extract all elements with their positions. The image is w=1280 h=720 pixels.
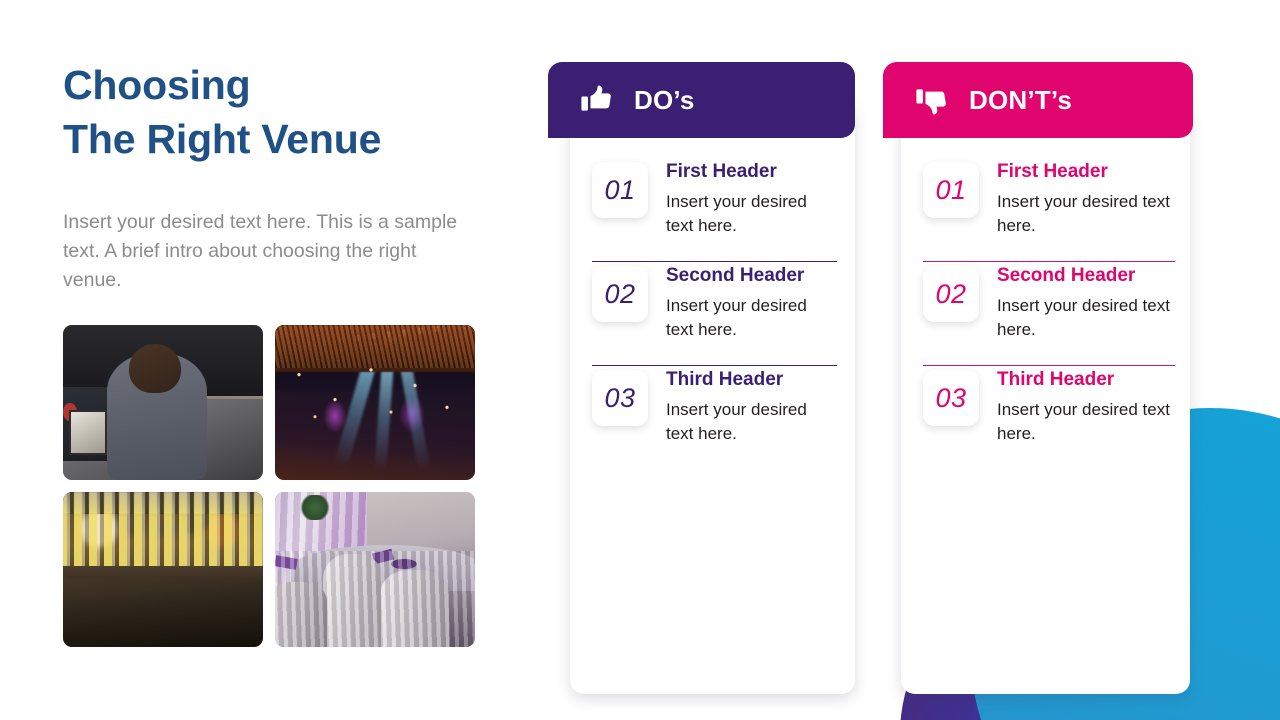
item-description: Insert your desired text here.	[997, 398, 1175, 447]
item-title: First Header	[666, 160, 837, 184]
page-title-line-2: The Right Venue	[63, 112, 483, 166]
item-title: First Header	[997, 160, 1175, 184]
item-title: Second Header	[997, 264, 1175, 288]
item-number-badge: 02	[923, 266, 979, 322]
item-description: Insert your desired text here.	[666, 294, 837, 343]
list-item[interactable]: 02 Second Header Insert your desired tex…	[923, 262, 1175, 343]
item-text-block: Second Header Insert your desired text h…	[666, 262, 837, 343]
photo-concert-stage-lights	[275, 325, 475, 480]
list-item[interactable]: 03 Third Header Insert your desired text…	[592, 366, 837, 447]
item-title: Second Header	[666, 264, 837, 288]
left-column: Choosing The Right Venue Insert your des…	[63, 58, 483, 295]
item-description: Insert your desired text here.	[997, 294, 1175, 343]
item-number-badge: 01	[592, 162, 648, 218]
list-item[interactable]: 03 Third Header Insert your desired text…	[923, 366, 1175, 447]
list-item[interactable]: 01 First Header Insert your desired text…	[923, 158, 1175, 239]
item-text-block: Third Header Insert your desired text he…	[666, 366, 837, 447]
list-item[interactable]: 01 First Header Insert your desired text…	[592, 158, 837, 239]
item-title: Third Header	[666, 368, 837, 392]
item-number-badge: 01	[923, 162, 979, 218]
photo-banquet-hall-chairs	[275, 492, 475, 647]
photo-man-at-mixing-desk	[63, 325, 263, 480]
page-title: Choosing The Right Venue	[63, 58, 483, 166]
item-text-block: First Header Insert your desired text he…	[997, 158, 1175, 239]
intro-paragraph: Insert your desired text here. This is a…	[63, 166, 463, 295]
item-description: Insert your desired text here.	[666, 398, 837, 447]
list-item[interactable]: 02 Second Header Insert your desired tex…	[592, 262, 837, 343]
item-number-badge: 03	[923, 370, 979, 426]
dos-items-list: 01 First Header Insert your desired text…	[548, 62, 855, 447]
slide-canvas: Choosing The Right Venue Insert your des…	[0, 0, 1280, 720]
photo-champagne-glasses	[63, 492, 263, 647]
item-number-badge: 02	[592, 266, 648, 322]
item-description: Insert your desired text here.	[666, 190, 837, 239]
donts-items-list: 01 First Header Insert your desired text…	[883, 62, 1193, 447]
item-text-block: Third Header Insert your desired text he…	[997, 366, 1175, 447]
item-description: Insert your desired text here.	[997, 190, 1175, 239]
item-title: Third Header	[997, 368, 1175, 392]
page-title-line-1: Choosing	[63, 58, 483, 112]
item-number-badge: 03	[592, 370, 648, 426]
item-text-block: First Header Insert your desired text he…	[666, 158, 837, 239]
photo-grid	[63, 325, 475, 647]
item-text-block: Second Header Insert your desired text h…	[997, 262, 1175, 343]
